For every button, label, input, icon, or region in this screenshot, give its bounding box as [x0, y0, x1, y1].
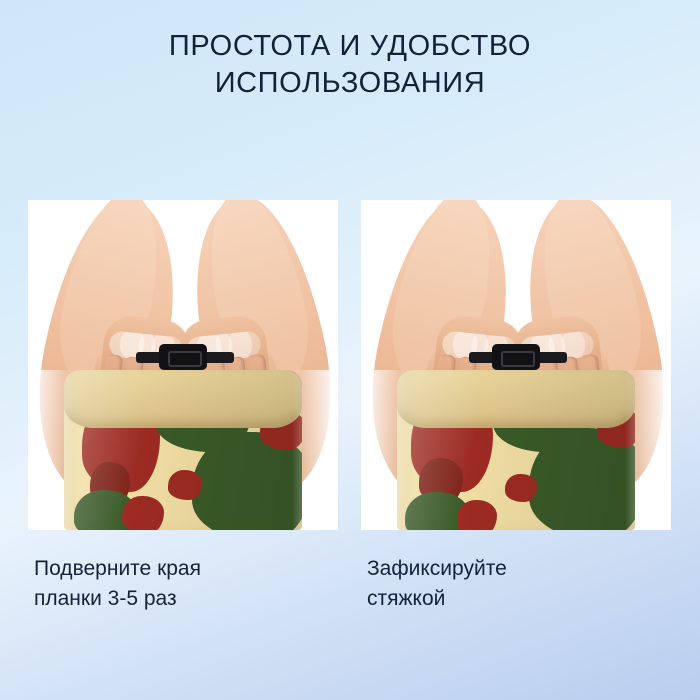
- page-title: ПРОСТОТА И УДОБСТВО ИСПОЛЬЗОВАНИЯ: [0, 28, 700, 102]
- promo-image: ПРОСТОТА И УДОБСТВО ИСПОЛЬЗОВАНИЯ: [0, 0, 700, 700]
- photo-left-fade: [361, 370, 407, 530]
- bag-rolled-edge: [397, 370, 635, 428]
- buckle-icon: [492, 344, 540, 370]
- camo-bag: [64, 370, 302, 530]
- step-2-caption: Зафиксируйте стяжкой: [361, 554, 671, 614]
- step-panel-2: Зафиксируйте стяжкой: [361, 200, 671, 614]
- photo-right-fade: [625, 370, 671, 530]
- bag-rolled-edge: [64, 370, 302, 428]
- photo-right-fade: [292, 370, 338, 530]
- buckle-icon: [159, 344, 207, 370]
- step-1-caption-line-1: Подверните края: [34, 554, 338, 584]
- step-2-photo: [361, 200, 671, 530]
- step-1-caption: Подверните края планки 3-5 раз: [28, 554, 338, 614]
- photo-left-fade: [28, 370, 74, 530]
- step-panel-1: Подверните края планки 3-5 раз: [28, 200, 338, 614]
- step-2-caption-line-2: стяжкой: [367, 584, 671, 614]
- page-title-line-1: ПРОСТОТА И УДОБСТВО: [60, 28, 640, 65]
- camo-bag: [397, 370, 635, 530]
- page-title-line-2: ИСПОЛЬЗОВАНИЯ: [60, 65, 640, 102]
- step-1-photo: [28, 200, 338, 530]
- step-2-caption-line-1: Зафиксируйте: [367, 554, 671, 584]
- step-1-caption-line-2: планки 3-5 раз: [34, 584, 338, 614]
- steps-panel-group: Подверните края планки 3-5 раз: [28, 200, 672, 614]
